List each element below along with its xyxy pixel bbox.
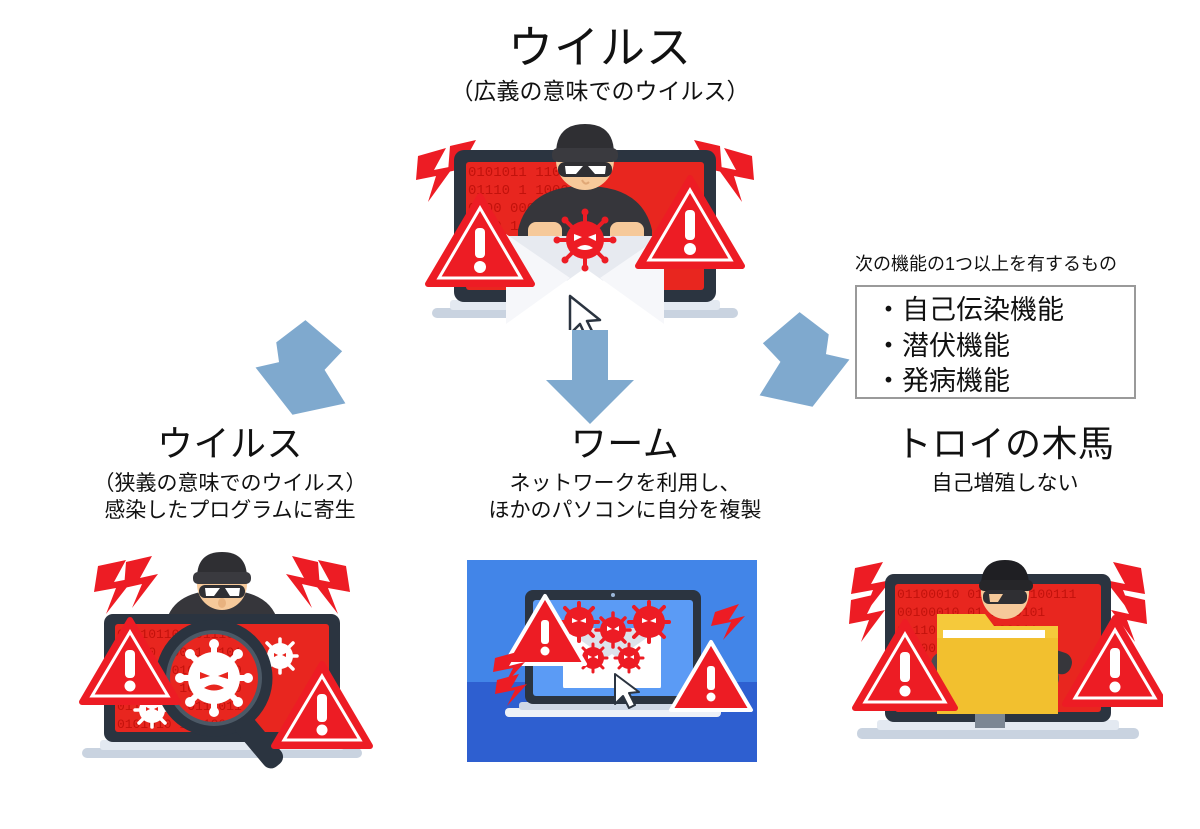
lightning-bolt-icon — [849, 562, 891, 642]
callout-item: ・自己伝染機能 — [875, 293, 1124, 329]
column-trojan-heading: トロイの木馬 自己増殖しない — [830, 424, 1180, 497]
column-worm-heading: ワーム ネットワークを利用し、 ほかのパソコンに自分を複製 — [425, 424, 825, 524]
arrow-shape — [250, 318, 350, 418]
illustration-virus-top: 0101011 110010 01110 1 100000 0100 00011… — [410, 118, 760, 330]
virus-icon — [629, 602, 669, 642]
illustration-trojan-folder: 01100010 0111010 100111 00100010 01 1100… — [833, 552, 1163, 774]
callout-box: ・自己伝染機能 ・潜伏機能 ・発病機能 — [855, 285, 1136, 399]
column-subline: （狭義の意味でのウイルス） — [30, 470, 430, 497]
column-subline: ネットワークを利用し、 — [425, 470, 825, 497]
illustration-worm-envelope — [467, 560, 757, 762]
page-subtitle: （広義の意味でのウイルス） — [380, 77, 820, 106]
column-subline: 自己増殖しない — [830, 470, 1180, 497]
column-title-worm: ワーム — [425, 424, 825, 464]
callout-item: ・発病機能 — [875, 364, 1124, 400]
infographic-canvas: ウイルス （広義の意味でのウイルス） 0101011 11001 — [0, 0, 1200, 829]
arrow-shape — [755, 310, 855, 410]
column-virus-heading: ウイルス （狭義の意味でのウイルス） 感染したプログラムに寄生 — [30, 424, 430, 524]
callout-caption: 次の機能の1つ以上を有するもの — [855, 254, 1145, 276]
column-subline: 感染したプログラムに寄生 — [30, 497, 430, 524]
column-title-virus: ウイルス — [30, 424, 430, 464]
lightning-bolt-icon — [94, 556, 158, 614]
virus-icon — [175, 639, 253, 717]
arrow-center — [540, 330, 640, 426]
lightning-bolt-icon — [286, 556, 350, 614]
callout-item: ・潜伏機能 — [875, 329, 1124, 365]
folder-icon — [937, 614, 1058, 714]
virus-icon — [596, 613, 630, 647]
virus-icon — [615, 644, 643, 672]
arrow-right — [755, 310, 865, 410]
page-title-block: ウイルス （広義の意味でのウイルス） — [380, 24, 820, 106]
page-title: ウイルス — [380, 24, 820, 71]
column-subline: ほかのパソコンに自分を複製 — [425, 497, 825, 524]
virus-icon — [554, 209, 617, 272]
callout-block: 次の機能の1つ以上を有するもの — [855, 254, 1145, 276]
arrow-left — [240, 318, 350, 418]
illustration-virus-magnifier: 010101101 011100 01110 100 1 0101 011001… — [62, 552, 382, 774]
column-title-trojan: トロイの木馬 — [830, 424, 1180, 464]
arrow-shape — [546, 330, 634, 424]
